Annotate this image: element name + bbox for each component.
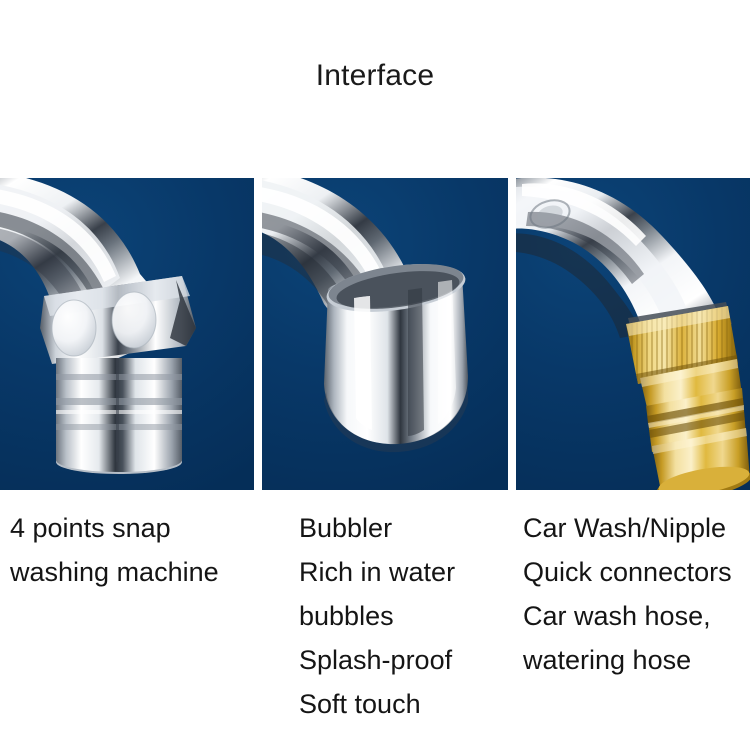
panel-1-image: Chrome faucet spout with four-point snap… <box>0 178 254 490</box>
panel-3-caption-line-1: Car Wash/Nipple <box>523 506 732 550</box>
panel-2-image: Chrome faucet spout with smooth bubbler … <box>262 178 508 490</box>
product-infographic: Interface Chrome faucet spout with four-… <box>0 0 750 750</box>
panel-3-caption-line-4: watering hose <box>523 638 732 682</box>
panel-3-caption: Car Wash/Nipple Quick connectors Car was… <box>523 506 732 682</box>
panel-strip: Chrome faucet spout with four-point snap… <box>0 178 750 490</box>
faucet-snap-illustration <box>0 178 254 490</box>
panel-3-image: Chrome faucet spout with knurled brass q… <box>516 178 750 490</box>
panel-1-caption-line-1: 4 points snap <box>10 506 219 550</box>
panel-2-caption-line-5: Soft touch <box>299 682 455 726</box>
faucet-brass-connector-illustration <box>516 178 750 490</box>
panel-3-caption-line-2: Quick connectors <box>523 550 732 594</box>
panel-2-caption-line-2: Rich in water <box>299 550 455 594</box>
panel-2-caption-line-4: Splash-proof <box>299 638 455 682</box>
panel-1-caption-line-2: washing machine <box>10 550 219 594</box>
panel-3-caption-line-3: Car wash hose, <box>523 594 732 638</box>
panel-1-caption: 4 points snap washing machine <box>10 506 219 594</box>
panel-2-caption: Bubbler Rich in water bubbles Splash-pro… <box>299 506 455 726</box>
page-title: Interface <box>0 58 750 94</box>
faucet-bubbler-illustration <box>262 178 508 490</box>
panel-2-caption-line-3: bubbles <box>299 594 455 638</box>
panel-2-caption-line-1: Bubbler <box>299 506 455 550</box>
